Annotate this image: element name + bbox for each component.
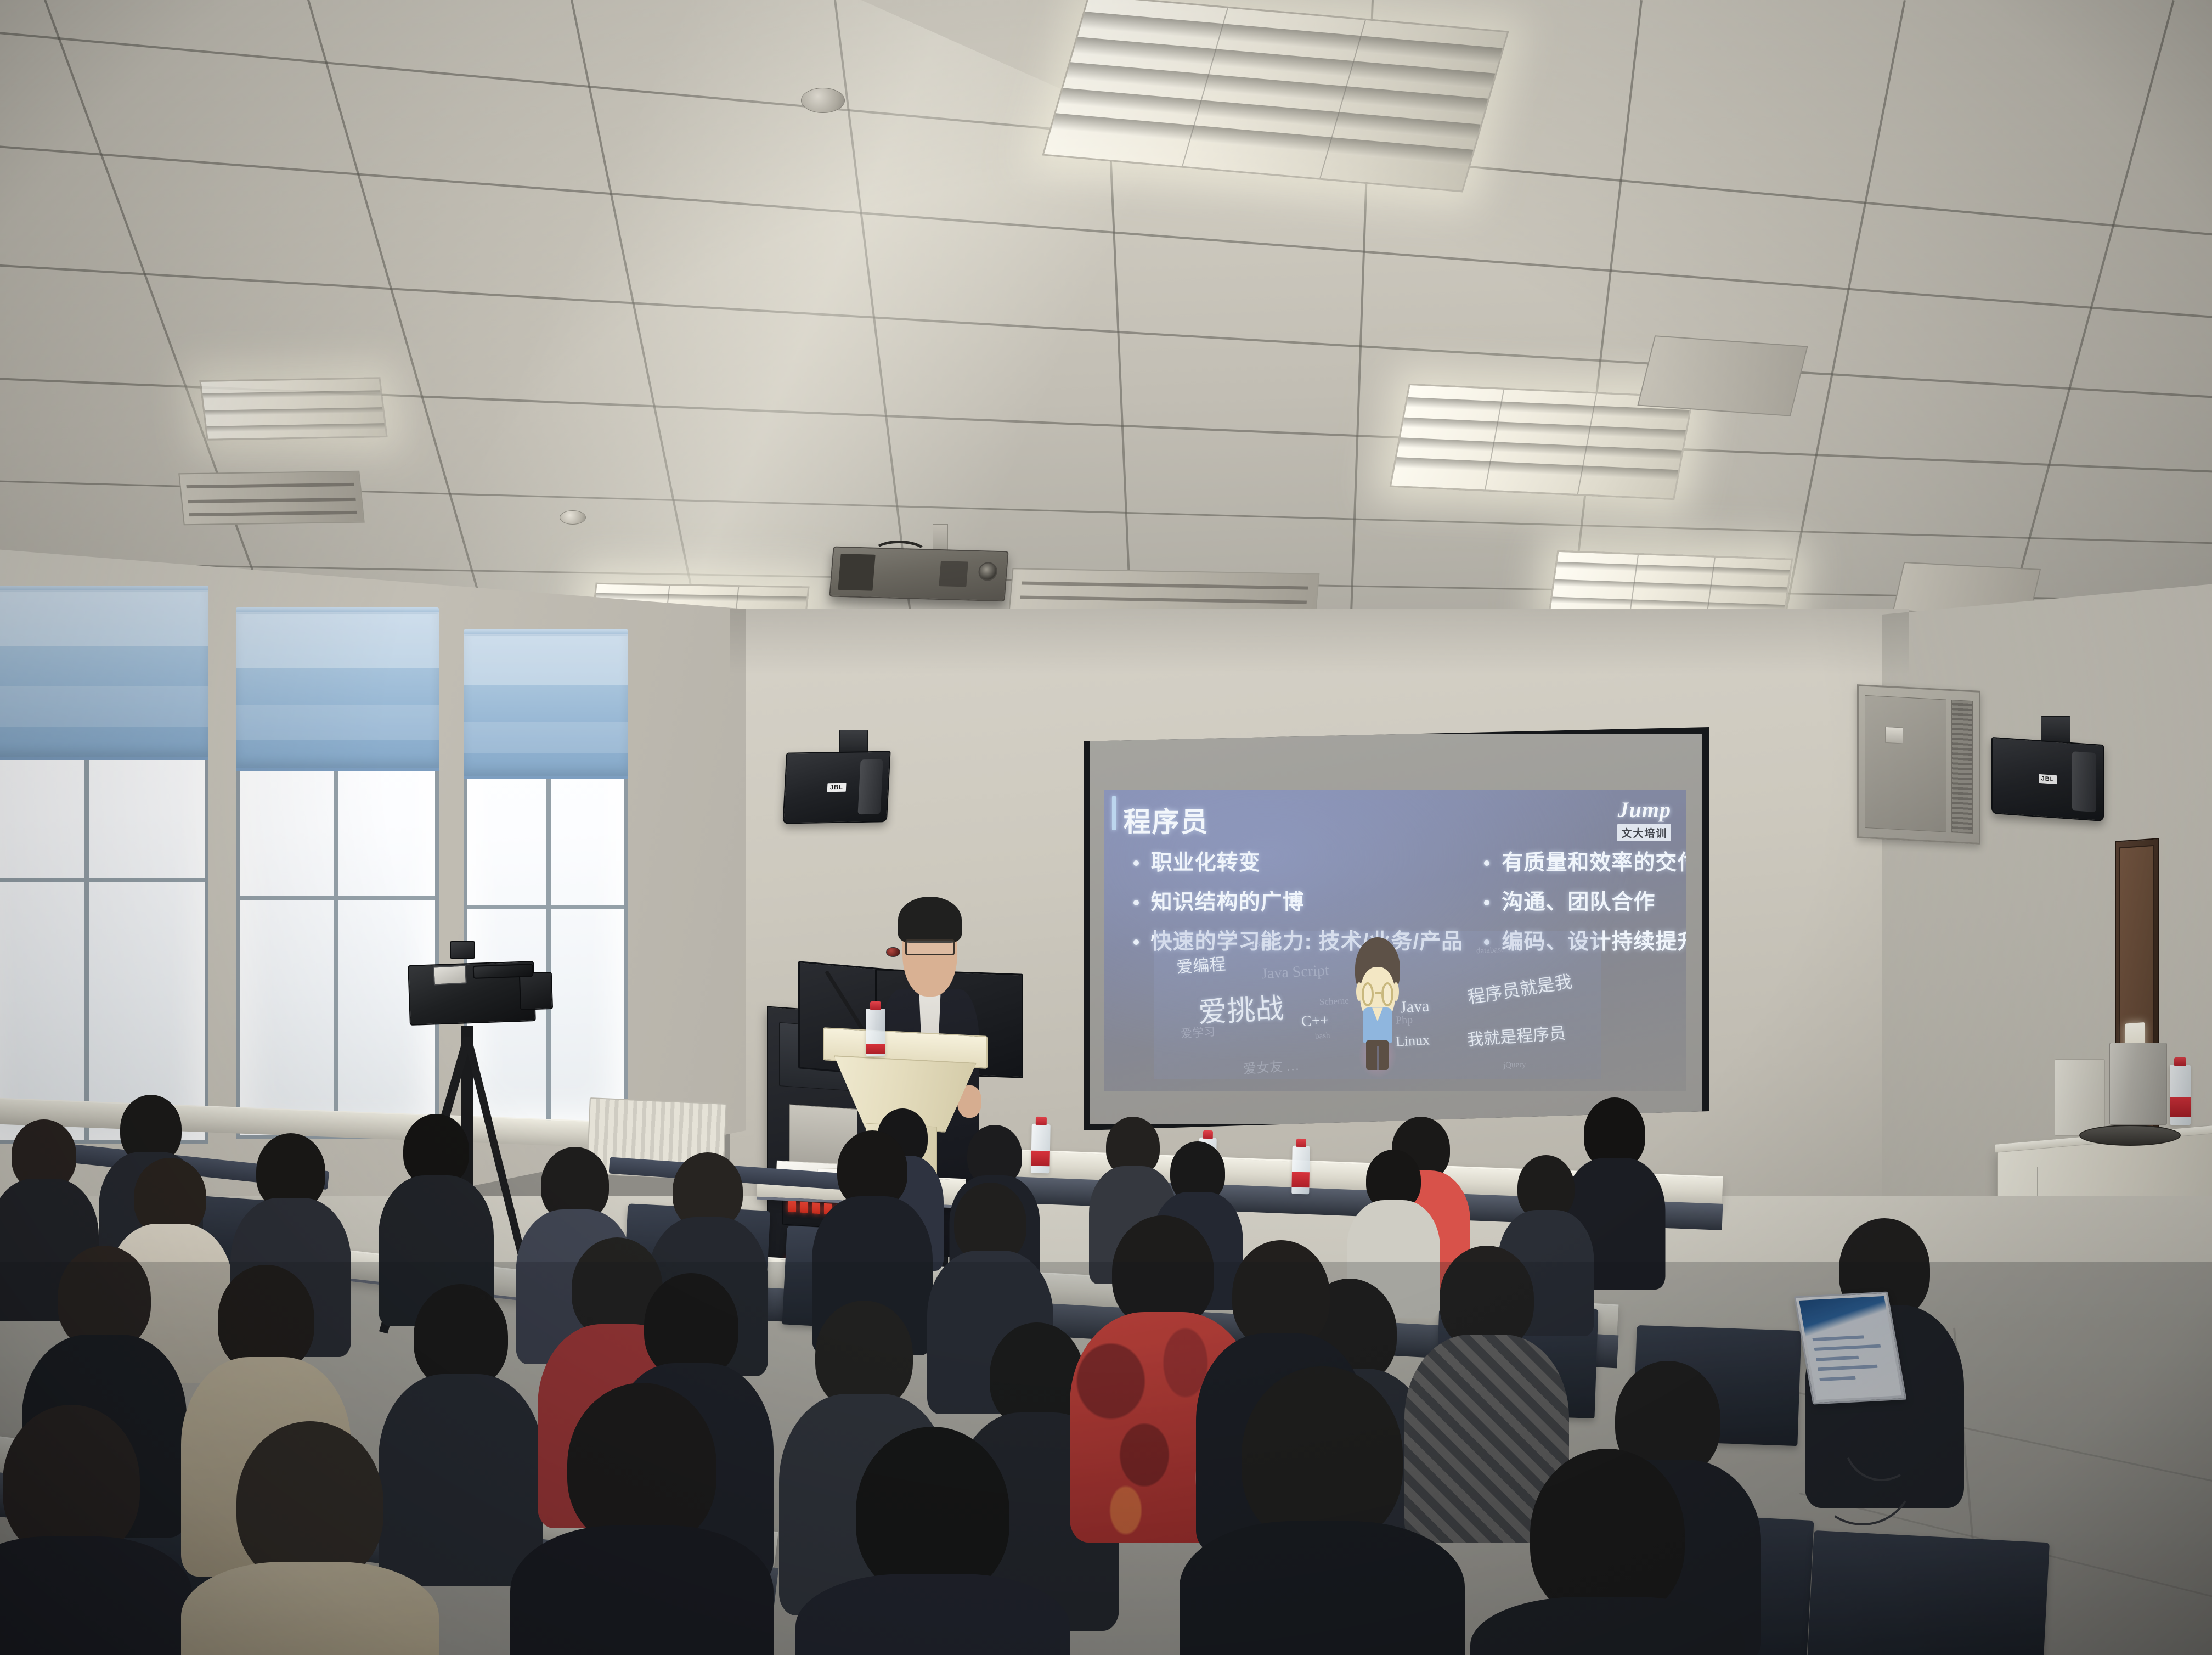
laptop-screen [1799,1296,1901,1400]
slide-accent-bar [1112,796,1116,830]
bullet-label: 知识结构的广博 [1151,890,1305,915]
wordcloud-term: 爱学习 [1180,1023,1216,1042]
bullet-item: 知识结构的广博 [1133,890,1464,915]
bullet-label: 沟通、团队合作 [1502,890,1655,915]
window-left-1 [0,590,208,1144]
slide-logo: Jump 文大培训 [1617,797,1671,841]
bullet-label: 有质量和效率的交付结果的能力 [1502,851,1686,876]
wordcloud-term: 爱编程 [1175,950,1226,978]
bullet-dot-icon [1484,860,1489,866]
jbl-logo: JBL [2039,774,2057,784]
wordcloud-term: 程序员就是我 [1466,967,1574,1009]
electrical-panel-box[interactable] [1857,684,1980,845]
audience-laptop[interactable] [1794,1292,1907,1405]
bullet-label: 职业化转变 [1151,851,1261,876]
jbl-speaker-right: JBL [1991,737,2104,821]
audience-person [1470,1449,1745,1655]
seat-back[interactable] [1807,1530,2050,1655]
window-left-2 [236,612,439,1139]
eyeglasses-icon [905,939,955,955]
projection-screen: 程序员 Jump 文大培训 职业化转变 知识结构的广博 [1084,727,1709,1130]
wordcloud-term: Scheme [1319,995,1349,1008]
audience-person [181,1421,439,1655]
audience-person [0,1405,192,1655]
jbl-logo: JBL [827,783,847,792]
drip-tray [2079,1125,2181,1146]
water-bottle [866,1009,885,1056]
wordcloud-term: database [1476,945,1504,956]
bullet-item: 职业化转变 [1133,851,1464,876]
window-left-3 [464,634,628,1128]
tan-hoodie [181,1562,439,1655]
programmer-avatar-icon [1351,937,1404,1073]
bullet-dot-icon [1133,939,1139,945]
logo-subtitle: 文大培训 [1617,824,1671,841]
wordcloud-term: 爱女友 … [1243,1055,1300,1078]
wordcloud-term: asp.net [1252,937,1280,949]
smoke-detector-icon [801,88,845,113]
water-bottle [2170,1065,2191,1125]
ceiling-light-troffer [199,377,387,441]
camera-viewfinder [450,941,475,959]
window-blind[interactable] [464,634,628,779]
wordcloud-term: Java Script [1261,962,1329,983]
presentation-slide: 程序员 Jump 文大培训 职业化转变 知识结构的广博 [1104,790,1686,1090]
window-blind[interactable] [236,612,439,771]
wordcloud-term: bash [1314,1031,1330,1041]
logo-wordmark: Jump [1617,797,1671,823]
wordcloud-term: C++ [1301,1012,1329,1031]
ceiling-projector [829,547,1008,602]
camera-lcd-monitor [433,965,467,985]
wordcloud-term: Php [1395,1014,1413,1027]
ceiling [0,0,2212,675]
audience-person [1180,1366,1465,1655]
water-urn [2055,1059,2105,1136]
jbl-speaker-left: JBL [782,751,890,824]
wordcloud-term: Linux [1395,1032,1430,1050]
bullet-item: 沟通、团队合作 [1484,890,1686,915]
water-dispenser [2109,1043,2167,1125]
slide-wordcloud-illustration: 爱编程爱挑战爱学习爱女友 …Java Scriptasp.netSchemeC+… [1154,931,1601,1078]
smoke-detector-icon [560,510,586,525]
audience-person [510,1383,774,1655]
bullet-dot-icon [1133,860,1139,866]
bullet-dot-icon [1133,900,1139,905]
wordcloud-term: jQuery [1503,1060,1526,1071]
camera-handle [473,964,534,979]
slide-title: 程序员 [1124,800,1209,840]
bullet-item: 有质量和效率的交付结果的能力 [1484,851,1686,876]
bullet-dot-icon [1484,900,1489,905]
ac-diffuser-vent [178,471,365,525]
speaker-bracket [2041,716,2070,742]
audience-person [795,1427,1070,1655]
lecture-hall-photo: 程序员 Jump 文大培训 职业化转变 知识结构的广博 [0,0,2212,1655]
window-blind[interactable] [0,590,208,760]
return-air-grille [1637,335,1808,416]
wordcloud-term: 我就是程序员 [1466,1019,1567,1050]
water-bottle [1291,1146,1310,1195]
